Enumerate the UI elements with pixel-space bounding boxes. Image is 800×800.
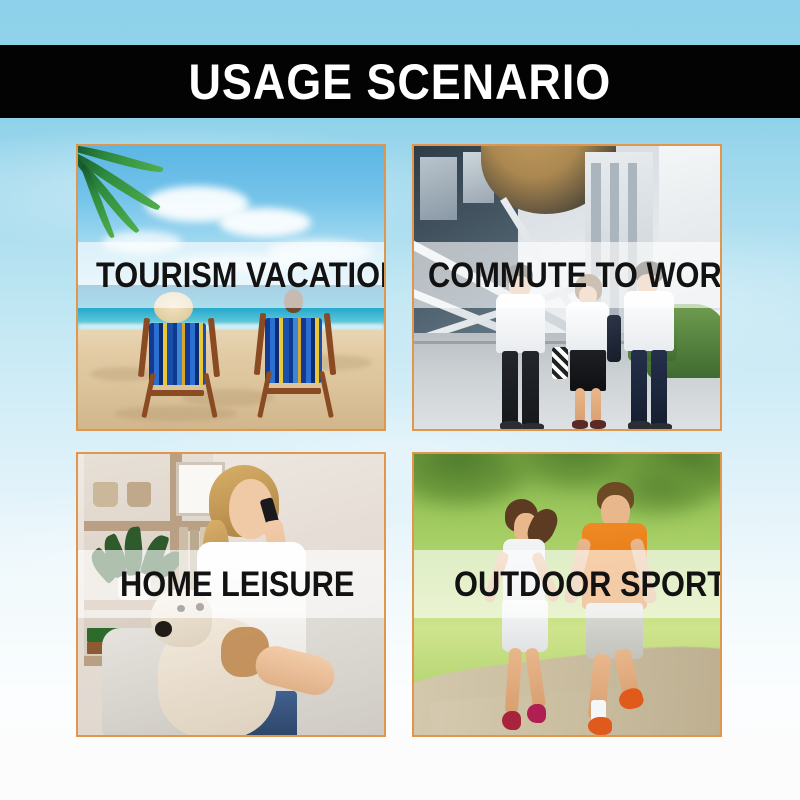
chair-fabric — [149, 323, 206, 385]
chair-crossbar — [265, 388, 321, 394]
scenario-card-home-leisure[interactable]: HOME LEISURE — [76, 452, 386, 737]
running-shoe — [527, 704, 546, 723]
scenario-card-tourism-vacation[interactable]: TOURISM VACATION — [76, 144, 386, 431]
card-label-home-leisure: HOME LEISURE — [120, 567, 354, 602]
leg — [575, 388, 585, 423]
card-label-commute-to-work: COMMUTE TO WORK — [428, 258, 722, 293]
chair-leg — [141, 373, 155, 418]
scenario-card-outdoor-sport[interactable]: OUTDOOR SPORT — [412, 452, 722, 737]
jacket-over-arm — [607, 315, 622, 363]
usage-scenario-page: USAGE SCENARIO — [0, 0, 800, 800]
heel-shoe — [590, 420, 606, 429]
card-label-band: TOURISM VACATION — [78, 242, 384, 308]
trousers — [502, 351, 518, 426]
pencil-skirt — [570, 350, 605, 391]
jar — [127, 482, 151, 507]
palm-tree-left — [78, 146, 231, 248]
chair-leg — [203, 373, 217, 418]
jar — [93, 482, 117, 507]
shoe — [628, 421, 651, 429]
leg — [504, 647, 521, 714]
shoe — [650, 423, 673, 429]
shoe — [521, 423, 544, 429]
leg — [525, 647, 546, 710]
trousers — [651, 350, 667, 426]
building — [420, 157, 457, 219]
scenario-card-commute-to-work[interactable]: COMMUTE TO WORK — [412, 144, 722, 431]
chair-fabric — [265, 318, 322, 383]
handbag — [552, 347, 568, 379]
chair-crossbar — [149, 390, 205, 396]
page-title: USAGE SCENARIO — [189, 57, 612, 107]
chair-frame — [324, 313, 337, 376]
title-banner: USAGE SCENARIO — [0, 45, 800, 118]
chair-leg — [319, 371, 333, 418]
card-label-outdoor-sport: OUTDOOR SPORT — [454, 567, 722, 602]
shoe — [500, 421, 523, 429]
card-label-tourism-vacation: TOURISM VACATION — [96, 258, 386, 293]
trousers — [522, 351, 538, 426]
trousers — [631, 350, 647, 426]
heel-shoe — [572, 420, 588, 429]
chair-frame — [208, 318, 221, 378]
deck-chair-right — [255, 296, 335, 421]
card-label-band: OUTDOOR SPORT — [414, 550, 720, 618]
dog-nose — [155, 621, 173, 637]
leg — [591, 388, 601, 423]
running-shoe — [502, 711, 521, 730]
card-label-band: COMMUTE TO WORK — [414, 242, 720, 308]
card-label-band: HOME LEISURE — [78, 550, 384, 618]
deck-chair-left — [139, 302, 219, 421]
blouse — [566, 302, 609, 352]
running-shoe — [588, 717, 612, 735]
